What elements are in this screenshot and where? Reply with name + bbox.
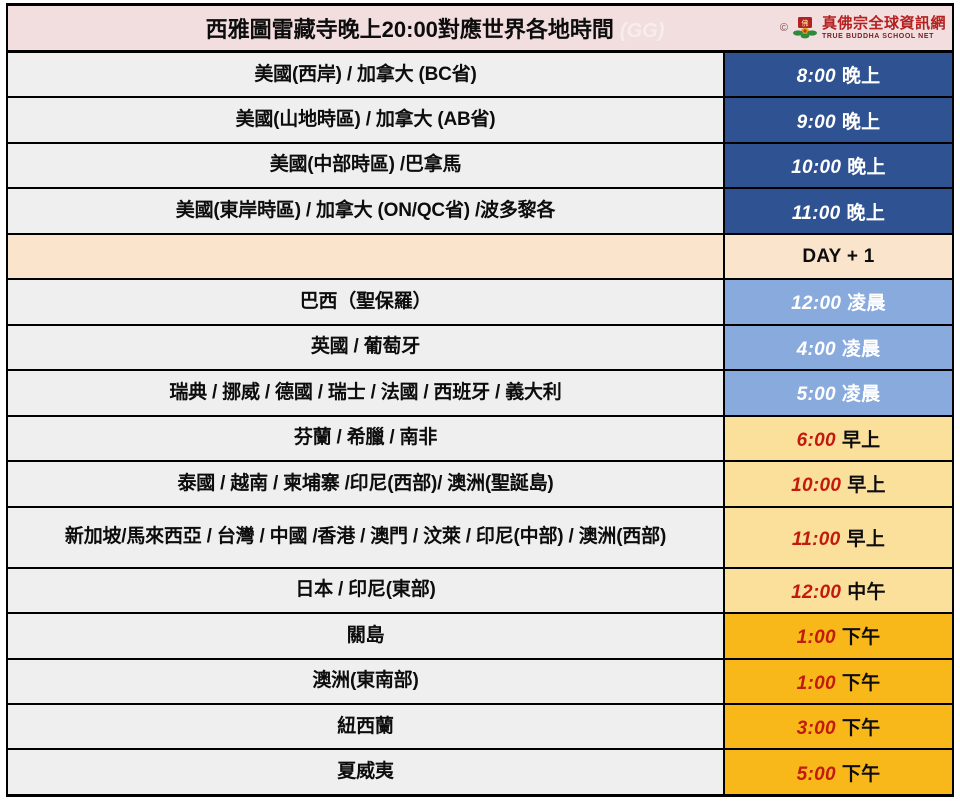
time-label: 1:00下午 — [797, 668, 881, 695]
time-label: 6:00早上 — [797, 425, 881, 452]
time-period: 凌晨 — [842, 339, 881, 360]
time-period: 早上 — [842, 430, 881, 451]
time-cell: 8:00晚上 — [725, 53, 952, 96]
table-row: 英國 / 葡萄牙4:00凌晨 — [8, 326, 952, 371]
region-cell: 澳洲(東南部) — [8, 660, 725, 703]
lotus-emblem-icon: 佛 — [792, 15, 818, 41]
region-cell: 泰國 / 越南 / 柬埔寨 /印尼(西部)/ 澳洲(聖誕島) — [8, 462, 725, 505]
region-label: 美國(西岸) / 加拿大 (BC省) — [13, 64, 718, 86]
page-title: 西雅圖雷藏寺晚上20:00對應世界各地時間 — [206, 12, 614, 44]
time-label: 11:00早上 — [792, 524, 885, 551]
time-period: 早上 — [847, 475, 886, 496]
table-row: 泰國 / 越南 / 柬埔寨 /印尼(西部)/ 澳洲(聖誕島)10:00早上 — [8, 462, 952, 507]
region-cell: 關島 — [8, 614, 725, 657]
time-number: 12:00 — [791, 582, 841, 603]
table-row: 瑞典 / 挪威 / 德國 / 瑞士 / 法國 / 西班牙 / 義大利5:00凌晨 — [8, 371, 952, 416]
time-period: 凌晨 — [842, 384, 881, 405]
time-cell: 10:00晚上 — [725, 144, 952, 187]
table-row: 美國(中部時區) /巴拿馬10:00晚上 — [8, 144, 952, 189]
time-cell: 12:00凌晨 — [725, 280, 952, 323]
time-label: 11:00晚上 — [792, 198, 885, 225]
region-cell: 美國(東岸時區) / 加拿大 (ON/QC省) /波多黎各 — [8, 189, 725, 232]
time-period: 下午 — [842, 673, 881, 694]
region-cell: 瑞典 / 挪威 / 德國 / 瑞士 / 法國 / 西班牙 / 義大利 — [8, 371, 725, 414]
table-row: 日本 / 印尼(東部)12:00中午 — [8, 569, 952, 614]
region-label: 泰國 / 越南 / 柬埔寨 /印尼(西部)/ 澳洲(聖誕島) — [13, 473, 718, 495]
time-label: 3:00下午 — [797, 713, 881, 740]
logo-english-name: TRUE BUDDHA SCHOOL NET — [822, 33, 946, 40]
table-row: 澳洲(東南部)1:00下午 — [8, 660, 952, 705]
table-row: 美國(西岸) / 加拿大 (BC省)8:00晚上 — [8, 53, 952, 98]
time-number: 10:00 — [791, 157, 841, 178]
table-row: 新加坡/馬來西亞 / 台灣 / 中國 /香港 / 澳門 / 汶萊 / 印尼(中部… — [8, 508, 952, 569]
region-label: 新加坡/馬來西亞 / 台灣 / 中國 /香港 / 澳門 / 汶萊 / 印尼(中部… — [13, 526, 718, 548]
region-cell: 巴西（聖保羅） — [8, 280, 725, 323]
time-number: 12:00 — [791, 293, 841, 314]
time-cell: 1:00下午 — [725, 660, 952, 703]
logo-chinese-name: 真佛宗全球資訊網 — [822, 16, 946, 31]
time-number: 4:00 — [797, 339, 836, 360]
time-number: 1:00 — [797, 673, 836, 694]
time-number: 10:00 — [791, 475, 841, 496]
time-cell: 5:00凌晨 — [725, 371, 952, 414]
time-cell: 4:00凌晨 — [725, 326, 952, 369]
table-row: 美國(山地時區) / 加拿大 (AB省)9:00晚上 — [8, 98, 952, 143]
svg-text:佛: 佛 — [801, 19, 808, 28]
region-label: 關島 — [13, 625, 718, 647]
header-title-group: 西雅圖雷藏寺晚上20:00對應世界各地時間 (GG) — [206, 12, 755, 44]
day-offset-label: DAY + 1 — [802, 246, 874, 268]
table-header: 西雅圖雷藏寺晚上20:00對應世界各地時間 (GG) © 佛 真佛宗全球資訊網 … — [6, 3, 954, 53]
time-label: 12:00中午 — [791, 577, 886, 604]
time-cell: 11:00晚上 — [725, 189, 952, 232]
region-label: 紐西蘭 — [13, 716, 718, 738]
time-label: 10:00早上 — [791, 470, 886, 497]
time-period: 下午 — [842, 627, 881, 648]
table-row: 紐西蘭3:00下午 — [8, 705, 952, 750]
region-label: 日本 / 印尼(東部) — [13, 579, 718, 601]
time-label: 9:00晚上 — [797, 107, 881, 134]
region-label: 夏威夷 — [13, 761, 718, 783]
time-period: 晚上 — [842, 66, 881, 87]
time-number: 1:00 — [797, 627, 836, 648]
time-period: 晚上 — [842, 112, 881, 133]
time-label: 1:00下午 — [797, 622, 881, 649]
region-cell: 紐西蘭 — [8, 705, 725, 748]
time-number: 11:00 — [792, 203, 841, 224]
region-cell: 英國 / 葡萄牙 — [8, 326, 725, 369]
region-cell: 日本 / 印尼(東部) — [8, 569, 725, 612]
region-label: 美國(中部時區) /巴拿馬 — [13, 154, 718, 176]
time-label: 5:00凌晨 — [797, 379, 881, 406]
region-label: 美國(東岸時區) / 加拿大 (ON/QC省) /波多黎各 — [13, 200, 718, 222]
time-period: 凌晨 — [847, 293, 886, 314]
table-row: 關島1:00下午 — [8, 614, 952, 659]
time-label: 12:00凌晨 — [791, 288, 886, 315]
time-cell: 1:00下午 — [725, 614, 952, 657]
time-cell: 12:00中午 — [725, 569, 952, 612]
region-cell: 夏威夷 — [8, 750, 725, 793]
time-number: 8:00 — [797, 66, 836, 87]
time-number: 11:00 — [792, 529, 841, 550]
region-label: 英國 / 葡萄牙 — [13, 336, 718, 358]
time-label: 5:00下午 — [797, 759, 881, 786]
time-cell: 9:00晚上 — [725, 98, 952, 141]
header-watermark: (GG) — [620, 20, 664, 43]
time-period: 下午 — [842, 718, 881, 739]
time-label: 10:00晚上 — [791, 152, 886, 179]
timezone-table-sheet: 西雅圖雷藏寺晚上20:00對應世界各地時間 (GG) © 佛 真佛宗全球資訊網 … — [0, 0, 960, 801]
time-period: 下午 — [842, 764, 881, 785]
time-period: 晚上 — [847, 203, 886, 224]
table-row: 芬蘭 / 希臘 / 南非6:00早上 — [8, 417, 952, 462]
logo-text-group: 真佛宗全球資訊網 TRUE BUDDHA SCHOOL NET — [822, 16, 946, 40]
site-logo: © 佛 真佛宗全球資訊網 TRUE BUDDHA SCHOOL NET — [780, 15, 946, 41]
region-label: 巴西（聖保羅） — [13, 291, 718, 313]
timezone-rows-container: 美國(西岸) / 加拿大 (BC省)8:00晚上美國(山地時區) / 加拿大 (… — [6, 53, 954, 797]
region-label: 芬蘭 / 希臘 / 南非 — [13, 427, 718, 449]
time-cell: 6:00早上 — [725, 417, 952, 460]
table-row: 夏威夷5:00下午 — [8, 750, 952, 793]
region-cell: 新加坡/馬來西亞 / 台灣 / 中國 /香港 / 澳門 / 汶萊 / 印尼(中部… — [8, 508, 725, 567]
region-cell: 美國(山地時區) / 加拿大 (AB省) — [8, 98, 725, 141]
time-number: 9:00 — [797, 112, 836, 133]
time-period: 晚上 — [847, 157, 886, 178]
day-offset-cell: DAY + 1 — [725, 235, 952, 278]
time-number: 6:00 — [797, 430, 836, 451]
time-cell: 5:00下午 — [725, 750, 952, 793]
region-label: 澳洲(東南部) — [13, 670, 718, 692]
table-row: 巴西（聖保羅）12:00凌晨 — [8, 280, 952, 325]
day-divider-row: DAY + 1 — [8, 235, 952, 280]
time-cell: 10:00早上 — [725, 462, 952, 505]
time-number: 5:00 — [797, 384, 836, 405]
region-cell: 美國(中部時區) /巴拿馬 — [8, 144, 725, 187]
region-cell — [8, 235, 725, 278]
time-number: 5:00 — [797, 764, 836, 785]
time-label: 4:00凌晨 — [797, 334, 881, 361]
copyright-icon: © — [780, 22, 788, 34]
region-cell: 美國(西岸) / 加拿大 (BC省) — [8, 53, 725, 96]
time-period: 中午 — [847, 582, 886, 603]
time-label: 8:00晚上 — [797, 61, 881, 88]
region-label: 瑞典 / 挪威 / 德國 / 瑞士 / 法國 / 西班牙 / 義大利 — [13, 382, 718, 404]
region-label: 美國(山地時區) / 加拿大 (AB省) — [13, 109, 718, 131]
region-cell: 芬蘭 / 希臘 / 南非 — [8, 417, 725, 460]
time-cell: 11:00早上 — [725, 508, 952, 567]
time-cell: 3:00下午 — [725, 705, 952, 748]
time-period: 早上 — [847, 529, 886, 550]
time-number: 3:00 — [797, 718, 836, 739]
table-row: 美國(東岸時區) / 加拿大 (ON/QC省) /波多黎各11:00晚上 — [8, 189, 952, 234]
